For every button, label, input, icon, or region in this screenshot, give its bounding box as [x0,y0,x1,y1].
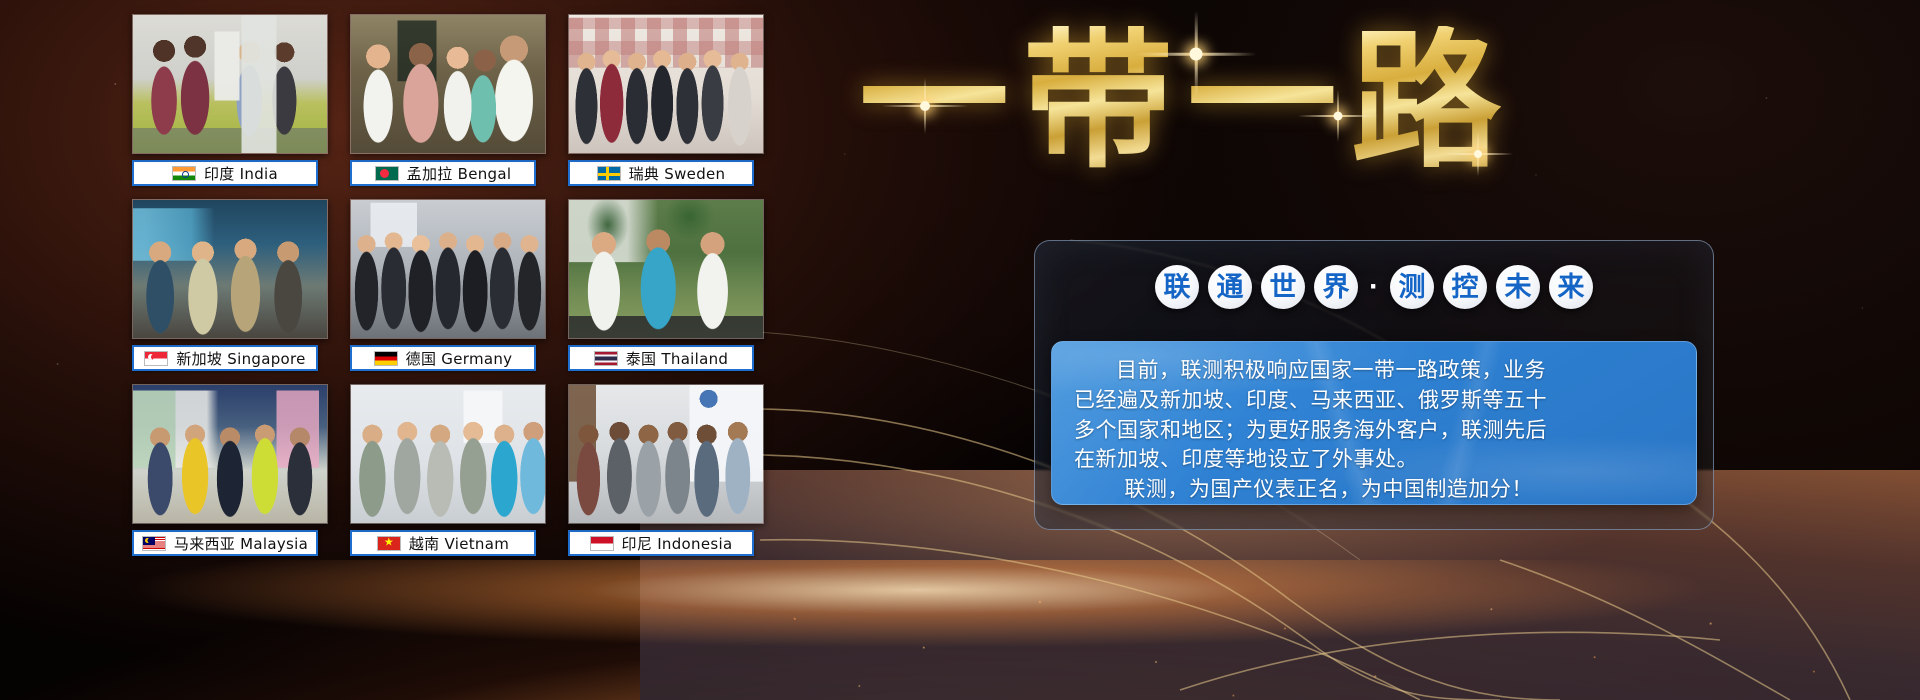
country-label-malaysia: 马来西亚 Malaysia [132,530,318,556]
country-label-text: 印尼 Indonesia [622,533,733,554]
calligraphy-char-2: 带 [1023,26,1173,176]
photo-vietnam [350,384,546,524]
malaysia-flag-icon [142,536,166,551]
gallery-item-vietnam[interactable]: 越南 Vietnam [350,384,546,569]
country-label-singapore: 新加坡 Singapore [132,345,318,371]
country-label-vietnam: 越南 Vietnam [350,530,536,556]
banner-stage: 一 带 一 路 [0,0,1920,700]
country-label-text: 德国 Germany [406,348,513,369]
slogan-bubble-3: 世 [1261,265,1305,309]
slogan-bubble-1: 联 [1155,265,1199,309]
slogan-bubble-6: 控 [1443,265,1487,309]
description-line-3: 多个国家和地区；为更好服务海外客户，联测先后 [1074,416,1674,446]
country-label-bengal: 孟加拉 Bengal [350,160,536,186]
description-line-5: 联测，为国产仪表正名，为中国制造加分！ [1074,475,1674,505]
country-label-text: 泰国 Thailand [626,348,729,369]
description-line-4: 在新加坡、印度等地设立了外事处。 [1074,445,1674,475]
gallery-item-germany[interactable]: 德国 Germany [350,199,546,384]
photo-bengal [350,14,546,154]
description-line-1: 目前，联测积极响应国家一带一路政策，业务 [1074,356,1674,386]
slogan-bubble-8: 来 [1549,265,1593,309]
gallery-item-india[interactable]: 印度 India [132,14,328,199]
photo-germany [350,199,546,339]
country-label-text: 马来西亚 Malaysia [174,533,308,554]
singapore-flag-icon [144,351,168,366]
vietnam-flag-icon [377,536,401,551]
photo-indonesia [568,384,764,524]
description-line-2: 已经遍及新加坡、印度、马来西亚、俄罗斯等五十 [1074,386,1674,416]
slogan-separator: · [1367,272,1381,302]
gallery-item-indonesia[interactable]: 印尼 Indonesia [568,384,764,569]
description-card: 目前，联测积极响应国家一带一路政策，业务 已经遍及新加坡、印度、马来西亚、俄罗斯… [1051,341,1697,505]
calligraphy-char-3: 一 [1187,26,1337,176]
photo-singapore [132,199,328,339]
bengal-flag-icon [375,166,399,181]
country-label-text: 新加坡 Singapore [176,348,305,369]
slogan-bubble-7: 未 [1496,265,1540,309]
sweden-flag-icon [597,166,621,181]
calligraphy-char-4: 路 [1351,26,1501,176]
gallery-item-sweden[interactable]: 瑞典 Sweden [568,14,764,199]
slogan-row: 联 通 世 界 · 测 控 未 来 [1035,265,1713,309]
country-label-germany: 德国 Germany [350,345,536,371]
country-label-text: 瑞典 Sweden [629,163,726,184]
country-label-text: 孟加拉 Bengal [407,163,512,184]
country-label-text: 越南 Vietnam [409,533,509,554]
country-label-sweden: 瑞典 Sweden [568,160,754,186]
germany-flag-icon [374,351,398,366]
photo-sweden [568,14,764,154]
photo-thailand [568,199,764,339]
thailand-flag-icon [594,351,618,366]
country-label-indonesia: 印尼 Indonesia [568,530,754,556]
gallery-item-bengal[interactable]: 孟加拉 Bengal [350,14,546,199]
slogan-bubble-2: 通 [1208,265,1252,309]
gallery-item-singapore[interactable]: 新加坡 Singapore [132,199,328,384]
country-label-text: 印度 India [204,163,278,184]
gallery-item-malaysia[interactable]: 马来西亚 Malaysia [132,384,328,569]
photo-india [132,14,328,154]
photo-malaysia [132,384,328,524]
country-photo-grid: 印度 India 孟加拉 Bengal 瑞典 S [132,14,764,569]
calligraphy-char-1: 一 [859,26,1009,176]
indonesia-flag-icon [590,536,614,551]
country-label-thailand: 泰国 Thailand [568,345,754,371]
country-label-india: 印度 India [132,160,318,186]
gallery-item-thailand[interactable]: 泰国 Thailand [568,199,764,384]
headline-calligraphy: 一 带 一 路 [830,6,1530,196]
slogan-bubble-4: 界 [1314,265,1358,309]
india-flag-icon [172,166,196,181]
info-panel: 联 通 世 界 · 测 控 未 来 目前，联测积极响应国家一带一路政策，业务 已… [1034,240,1714,530]
slogan-bubble-5: 测 [1390,265,1434,309]
